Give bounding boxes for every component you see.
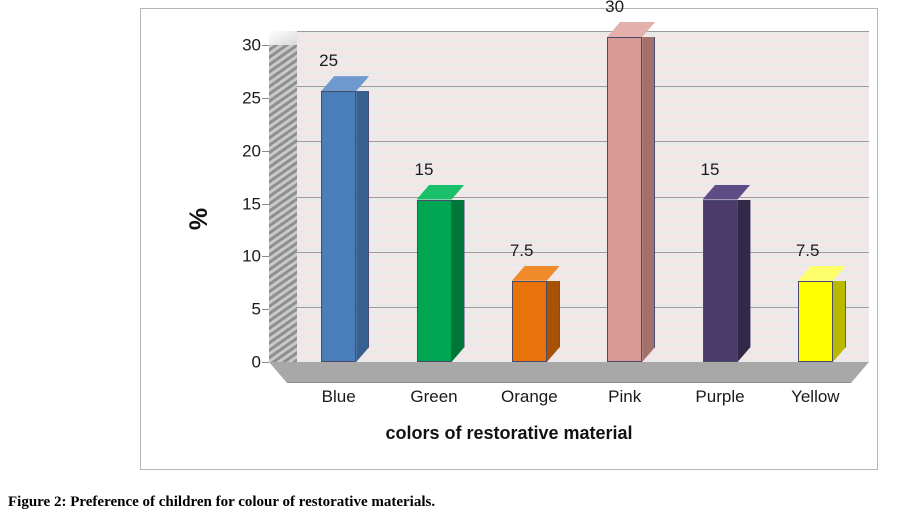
x-axis-tick-label: Orange bbox=[501, 387, 558, 407]
side-wall-cap bbox=[269, 31, 298, 45]
bar-pink[interactable]: 30 bbox=[607, 37, 642, 362]
bar-value-label: 15 bbox=[415, 160, 434, 180]
bar-yellow[interactable]: 7.5 bbox=[798, 281, 833, 362]
bar-chart: % 051015202530 25157.530157.5 BlueGreenO… bbox=[141, 9, 877, 469]
gridline bbox=[297, 197, 869, 198]
y-axis-tick bbox=[262, 309, 269, 310]
figure-frame: % 051015202530 25157.530157.5 BlueGreenO… bbox=[140, 8, 878, 470]
y-axis-tick-label: 30 bbox=[221, 37, 261, 54]
figure-caption: Figure 2: Preference of children for col… bbox=[8, 494, 435, 511]
bar-value-label: 15 bbox=[701, 160, 720, 180]
x-axis-title: colors of restorative material bbox=[141, 423, 877, 444]
axis-side-wall bbox=[269, 45, 298, 362]
bar-orange[interactable]: 7.5 bbox=[512, 281, 547, 362]
bar-value-label: 25 bbox=[319, 51, 338, 71]
y-axis-tick-labels: 051015202530 bbox=[211, 9, 261, 469]
x-axis-tick-label: Pink bbox=[608, 387, 641, 407]
y-axis-tick-label: 20 bbox=[221, 142, 261, 159]
y-axis-tick bbox=[262, 98, 269, 99]
x-axis-tick-label: Yellow bbox=[791, 387, 840, 407]
x-axis-tick-label: Purple bbox=[695, 387, 744, 407]
gridline bbox=[297, 31, 869, 32]
plot-floor bbox=[269, 362, 869, 383]
x-axis-tick-label: Blue bbox=[322, 387, 356, 407]
bar-green[interactable]: 15 bbox=[417, 200, 452, 363]
bar-blue[interactable]: 25 bbox=[321, 91, 356, 362]
y-axis-tick-label: 10 bbox=[221, 248, 261, 265]
y-axis-tick-label: 5 bbox=[221, 301, 261, 318]
bar-side-face bbox=[356, 91, 369, 362]
bar-front-face bbox=[798, 281, 833, 362]
bar-side-face bbox=[452, 200, 465, 363]
bar-front-face bbox=[703, 200, 738, 363]
bar-front-face bbox=[417, 200, 452, 363]
gridline bbox=[297, 141, 869, 142]
bar-front-face bbox=[607, 37, 642, 362]
y-axis-tick bbox=[262, 45, 269, 46]
bar-front-face bbox=[321, 91, 356, 362]
plot-floor-edge bbox=[287, 382, 851, 383]
bar-front-face bbox=[512, 281, 547, 362]
bar-value-label: 7.5 bbox=[510, 241, 534, 261]
y-axis-tick-label: 0 bbox=[221, 354, 261, 371]
bar-value-label: 7.5 bbox=[796, 241, 820, 261]
bar-side-face bbox=[738, 200, 751, 363]
x-axis-tick-label: Green bbox=[410, 387, 457, 407]
gridline bbox=[297, 252, 869, 253]
y-axis-tick bbox=[262, 362, 269, 363]
gridline bbox=[297, 307, 869, 308]
y-axis-tick bbox=[262, 256, 269, 257]
gridline bbox=[297, 86, 869, 87]
bar-side-face bbox=[642, 37, 655, 362]
x-axis-tick-labels: BlueGreenOrangePinkPurpleYellow bbox=[269, 387, 869, 413]
plot-back-wall bbox=[297, 31, 869, 362]
y-axis-tick-label: 25 bbox=[221, 89, 261, 106]
plot-area: 25157.530157.5 bbox=[269, 31, 869, 383]
y-axis-tick bbox=[262, 204, 269, 205]
y-axis-tick bbox=[262, 151, 269, 152]
bar-value-label: 30 bbox=[605, 0, 624, 17]
bar-purple[interactable]: 15 bbox=[703, 200, 738, 363]
y-axis-tick-label: 15 bbox=[221, 195, 261, 212]
